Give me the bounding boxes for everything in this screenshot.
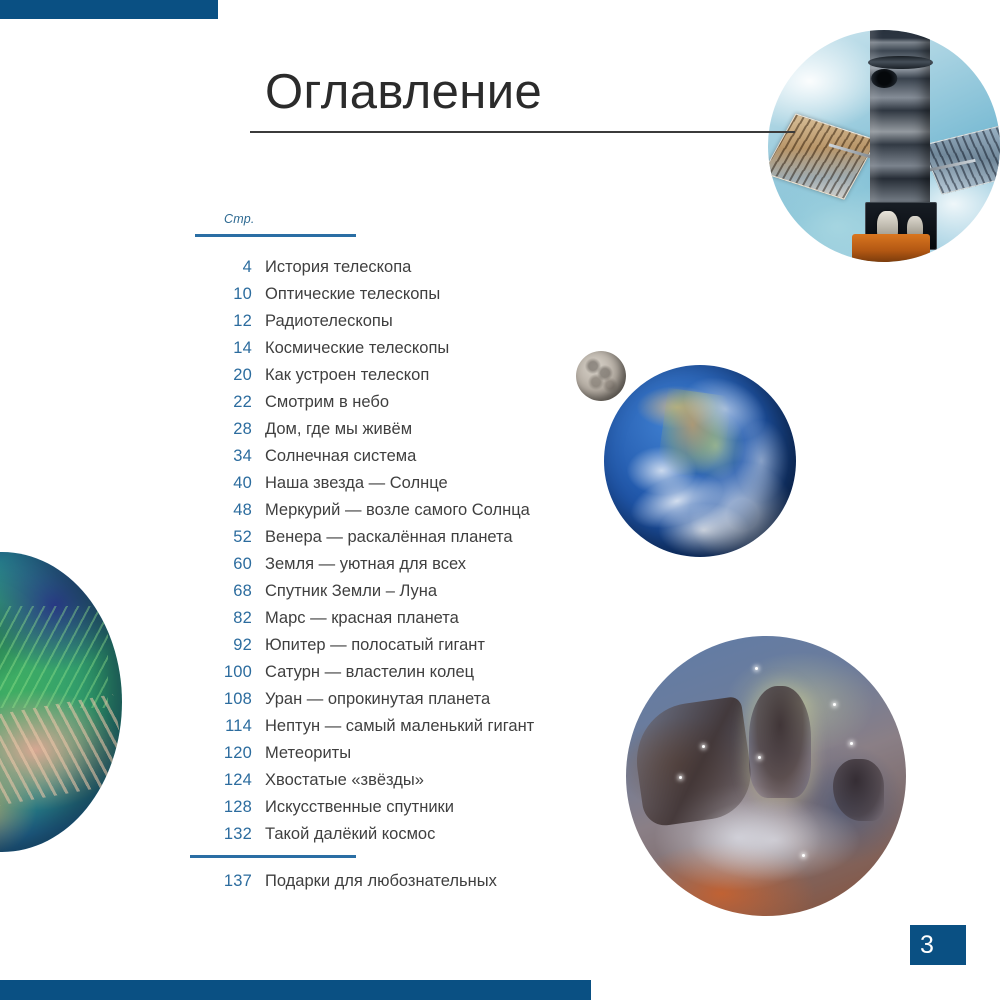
toc-entry[interactable]: 132Такой далёкий космос (180, 825, 610, 852)
nebula-photo (626, 636, 906, 916)
toc-entry-page: 128 (180, 798, 252, 817)
toc-entry[interactable]: 34Солнечная система (180, 447, 610, 474)
toc-entry[interactable]: 12Радиотелескопы (180, 312, 610, 339)
toc-entry[interactable]: 128Искусственные спутники (180, 798, 610, 825)
toc-entry-page: 10 (180, 285, 252, 304)
nebula-pillar (749, 686, 811, 798)
toc-entry-page: 12 (180, 312, 252, 331)
star-point (833, 703, 836, 706)
toc-entry-page: 40 (180, 474, 252, 493)
toc-entry-page: 68 (180, 582, 252, 601)
toc-entry-page: 137 (180, 872, 252, 891)
toc-entry-label: Уран — опрокинутая планета (252, 690, 490, 709)
toc-appendix-list: 137Подарки для любознательных (180, 872, 610, 899)
toc-entry-label: Меркурий — возле самого Солнца (252, 501, 530, 520)
toc-entry-page: 4 (180, 258, 252, 277)
toc-entry-page: 114 (180, 717, 252, 736)
bottom-accent-bar (0, 980, 591, 1000)
toc-entry[interactable]: 114Нептун — самый маленький гигант (180, 717, 610, 744)
toc-entry-label: Подарки для любознательных (252, 872, 497, 891)
toc-entry[interactable]: 40Наша звезда — Солнце (180, 474, 610, 501)
solar-panel-left (768, 113, 877, 199)
telescope-aperture (871, 69, 897, 88)
appendix-divider (190, 855, 356, 858)
toc-entry-page: 100 (180, 663, 252, 682)
toc-entry-page: 60 (180, 555, 252, 574)
toc-entry-label: Хвостатые «звёзды» (252, 771, 424, 790)
earth-planet-photo (604, 365, 796, 557)
toc-entry[interactable]: 20Как устроен телескоп (180, 366, 610, 393)
top-accent-bar (0, 0, 218, 19)
toc-entry[interactable]: 108Уран — опрокинутая планета (180, 690, 610, 717)
toc-entry-label: Радиотелескопы (252, 312, 393, 331)
toc-entry-page: 52 (180, 528, 252, 547)
hubble-space-telescope-photo (768, 30, 1000, 262)
toc-entry-label: Такой далёкий космос (252, 825, 435, 844)
venus-radar-map-photo (0, 552, 122, 852)
toc-entry-page: 34 (180, 447, 252, 466)
toc-entry-label: Земля — уютная для всех (252, 555, 466, 574)
toc-entry[interactable]: 48Меркурий — возле самого Солнца (180, 501, 610, 528)
toc-entry-page: 22 (180, 393, 252, 412)
toc-entry-page: 124 (180, 771, 252, 790)
toc-entry-page: 120 (180, 744, 252, 763)
star-point (702, 745, 705, 748)
toc-entry-label: Сатурн — властелин колец (252, 663, 474, 682)
toc-entry-label: Метеориты (252, 744, 351, 763)
toc-entry[interactable]: 124Хвостатые «звёзды» (180, 771, 610, 798)
toc-entry-label: Венера — раскалённая планета (252, 528, 513, 547)
page-column-caption: Стр. (224, 212, 255, 226)
toc-entry-page: 14 (180, 339, 252, 358)
toc-entry-label: Спутник Земли – Луна (252, 582, 437, 601)
toc-entry-page: 20 (180, 366, 252, 385)
shuttle-cargo-module (852, 234, 931, 262)
star-point (755, 667, 758, 670)
toc-entry-label: Дом, где мы живём (252, 420, 412, 439)
toc-page: Оглавление Стр. 4История телескопа10Опти… (0, 0, 1000, 1000)
page-title: Оглавление (265, 68, 542, 117)
toc-entry-label: Оптические телескопы (252, 285, 440, 304)
toc-entry[interactable]: 28Дом, где мы живём (180, 420, 610, 447)
venus-surface-texture-lower (0, 694, 122, 812)
toc-entry[interactable]: 14Космические телескопы (180, 339, 610, 366)
toc-entry[interactable]: 82Марс — красная планета (180, 609, 610, 636)
toc-entry[interactable]: 10Оптические телескопы (180, 285, 610, 312)
star-point (850, 742, 853, 745)
toc-entry[interactable]: 100Сатурн — властелин колец (180, 663, 610, 690)
toc-entry-label: Наша звезда — Солнце (252, 474, 448, 493)
caption-underline (195, 234, 356, 237)
toc-entry-label: Как устроен телескоп (252, 366, 429, 385)
toc-entry[interactable]: 92Юпитер — полосатый гигант (180, 636, 610, 663)
toc-entry[interactable]: 60Земля — уютная для всех (180, 555, 610, 582)
toc-entry-label: Солнечная система (252, 447, 416, 466)
toc-entry-label: История телескопа (252, 258, 411, 277)
title-underline (250, 131, 795, 133)
toc-entry-label: Искусственные спутники (252, 798, 454, 817)
toc-entry[interactable]: 4История телескопа (180, 258, 610, 285)
toc-entry-page: 82 (180, 609, 252, 628)
toc-entry-label: Марс — красная планета (252, 609, 459, 628)
page-number-badge: 3 (910, 925, 966, 965)
toc-entry[interactable]: 52Венера — раскалённая планета (180, 528, 610, 555)
toc-entry-label: Смотрим в небо (252, 393, 389, 412)
toc-entry-page: 108 (180, 690, 252, 709)
nebula-glow (688, 798, 862, 882)
solar-panel-right (921, 122, 1000, 194)
toc-entry[interactable]: 22Смотрим в небо (180, 393, 610, 420)
toc-entry-page: 28 (180, 420, 252, 439)
toc-entry[interactable]: 120Метеориты (180, 744, 610, 771)
toc-entry-page: 92 (180, 636, 252, 655)
toc-entry-page: 132 (180, 825, 252, 844)
toc-entry-label: Юпитер — полосатый гигант (252, 636, 485, 655)
toc-entry-label: Нептун — самый маленький гигант (252, 717, 534, 736)
toc-entry-label: Космические телескопы (252, 339, 449, 358)
venus-surface-texture-upper (0, 606, 108, 708)
telescope-top-ring (868, 56, 933, 70)
toc-entry[interactable]: 137Подарки для любознательных (180, 872, 610, 899)
toc-entry[interactable]: 68Спутник Земли – Луна (180, 582, 610, 609)
toc-list: 4История телескопа10Оптические телескопы… (180, 258, 610, 852)
toc-entry-page: 48 (180, 501, 252, 520)
earth-cloud-swirl-lower (622, 462, 732, 540)
